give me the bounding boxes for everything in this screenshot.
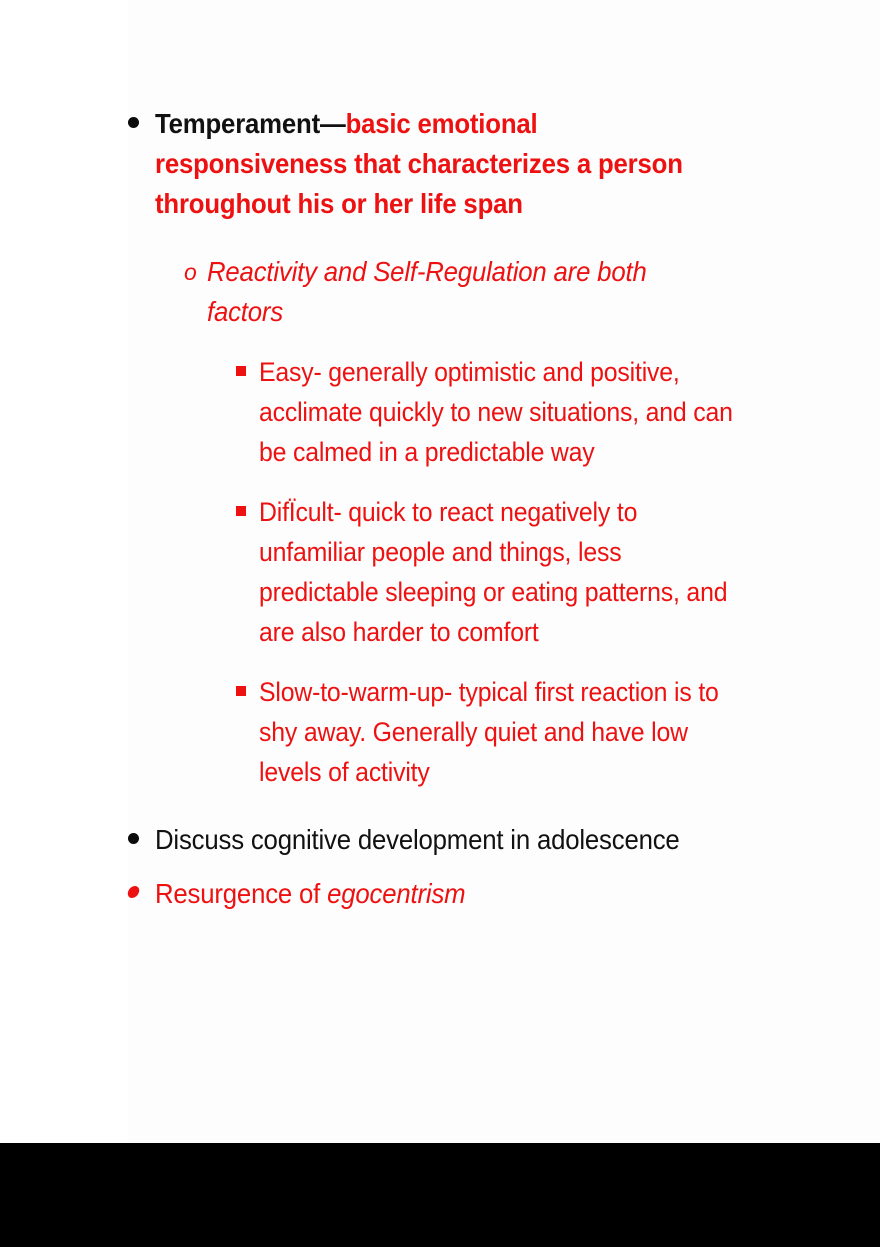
bullet-text-temperament: Temperament—basic emotional responsivene… [155,104,730,224]
bullet-text-difficult: DifÏcult- quick to react negatively to u… [259,492,743,652]
bullet-marker-circle-icon [128,833,139,844]
bullet-item-difficult: DifÏcult- quick to react negatively to u… [0,492,880,652]
bullet-item-discuss-cognitive-development: Discuss cognitive development in adolesc… [0,820,880,860]
bullet-lead-temperament: Temperament— [155,108,346,139]
bullet-marker-square-icon [236,506,246,516]
bullet-text-slow-to-warm-up: Slow-to-warm-up- typical first reaction … [259,672,743,792]
bullet-lead-resurgence: Resurgence of [155,878,327,909]
bullet-marker-circle-outline-icon: o [184,254,197,290]
bullet-marker-oval-icon [127,886,141,898]
slide-content-body: Temperament—basic emotional responsivene… [0,0,880,1143]
bullet-emphasis-egocentrism: egocentrism [327,878,465,909]
bullet-item-temperament: Temperament—basic emotional responsivene… [0,0,880,224]
bullet-text-easy: Easy- generally optimistic and positive,… [259,352,743,472]
bullet-item-easy: Easy- generally optimistic and positive,… [0,352,880,472]
slide-canvas: Temperament—basic emotional responsivene… [0,0,880,1247]
bullet-text-resurgence-egocentrism: Resurgence of egocentrism [155,874,730,914]
bottom-black-band [0,1143,880,1247]
bullet-marker-circle-icon [128,117,139,128]
bullet-text-reactivity: Reactivity and Self-Regulation are both … [207,252,725,332]
bullet-item-reactivity: o Reactivity and Self-Regulation are bot… [0,252,880,332]
bullet-marker-square-icon [236,686,246,696]
bullet-marker-square-icon [236,366,246,376]
bullet-item-resurgence-egocentrism: Resurgence of egocentrism [0,874,880,914]
bullet-item-slow-to-warm-up: Slow-to-warm-up- typical first reaction … [0,672,880,792]
bullet-text-discuss-cognitive-development: Discuss cognitive development in adolesc… [155,820,730,860]
